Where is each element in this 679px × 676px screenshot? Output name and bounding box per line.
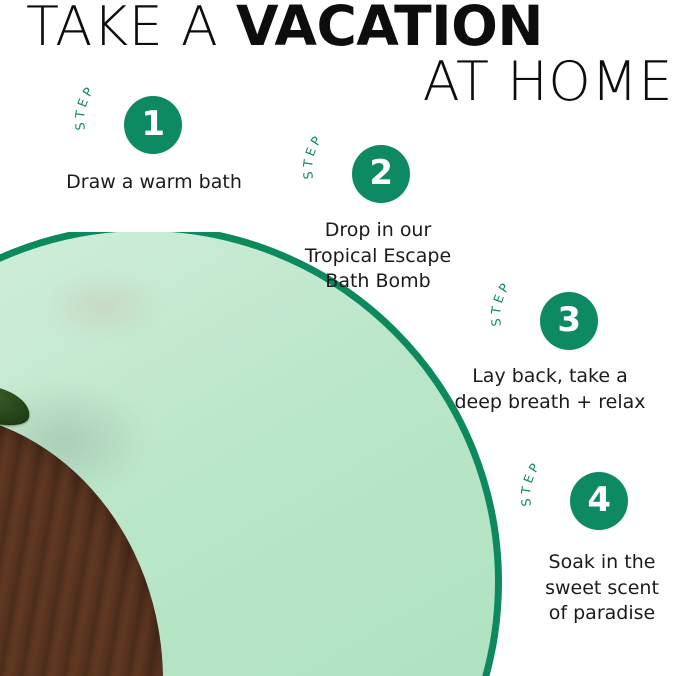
step-word-1: STEP	[72, 82, 98, 131]
step-number-3: 3	[557, 303, 580, 337]
step-caption-4: Soak in the sweet scent of paradise	[512, 550, 679, 627]
green-tinted-circle	[0, 232, 502, 676]
infographic-canvas: TAKE A VACATION AT HOME STEP 1 Draw a wa…	[0, 0, 679, 676]
product-lifestyle-photo	[0, 232, 520, 676]
svg-text:STEP: STEP	[300, 131, 326, 180]
step-word-2: STEP	[300, 131, 326, 180]
step-number-2: 2	[369, 156, 392, 190]
potted-plant-foliage	[0, 237, 63, 547]
step-word-4: STEP	[518, 458, 544, 507]
step-number-4: 4	[587, 483, 610, 517]
svg-text:STEP: STEP	[72, 82, 98, 131]
svg-text:STEP: STEP	[518, 458, 544, 507]
step-caption-2: Drop in our Tropical Escape Bath Bomb	[288, 218, 468, 295]
step-badge-4: 4	[570, 472, 628, 530]
headline-thin-part: TAKE A	[26, 0, 236, 58]
headline-line-1: TAKE A VACATION	[26, 0, 543, 57]
headline-bold-part: VACATION	[236, 0, 543, 58]
step-caption-3: Lay back, take a deep breath + relax	[430, 364, 670, 415]
step-badge-3: 3	[540, 292, 598, 350]
step-caption-1: Draw a warm bath	[54, 170, 254, 196]
plant-leaf	[0, 378, 34, 431]
step-badge-1: 1	[124, 96, 182, 154]
headline-line-2: AT HOME	[423, 52, 673, 112]
step-badge-2: 2	[352, 145, 410, 203]
step-number-1: 1	[141, 107, 164, 141]
